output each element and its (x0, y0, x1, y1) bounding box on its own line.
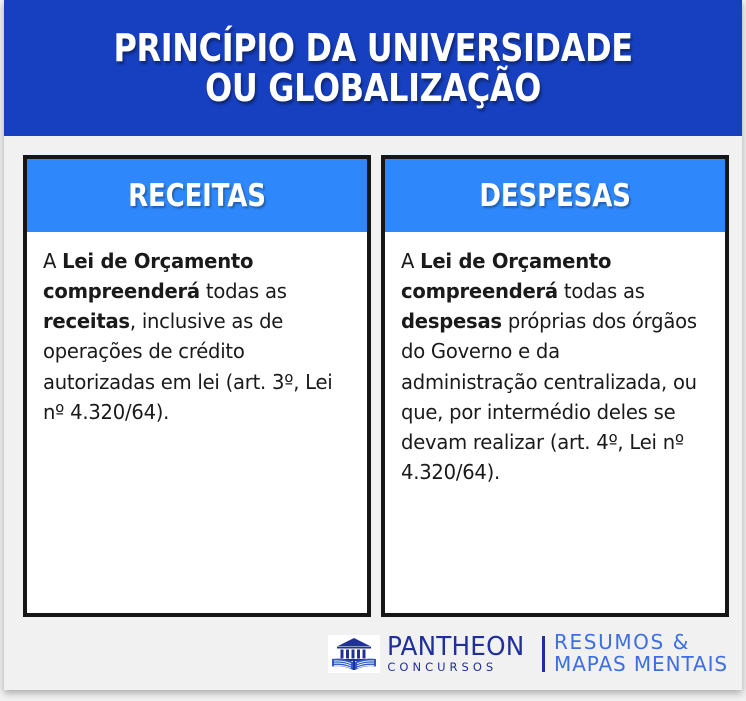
logo-divider (542, 636, 545, 672)
infographic-page: PRINCÍPIO DA UNIVERSIDADE OU GLOBALIZAÇÃ… (0, 0, 746, 701)
logo-subtitle: CONCURSOS (387, 662, 532, 674)
page-title: PRINCÍPIO DA UNIVERSIDADE OU GLOBALIZAÇÃ… (113, 28, 632, 109)
footer-branding: PANTHEON CONCURSOS RESUMOS & MAPAS MENTA… (4, 617, 742, 690)
column-text-receitas: A Lei de Orçamento compreenderá todas as… (43, 246, 339, 427)
column-despesas: DESPESAS A Lei de Orçamento compreenderá… (381, 155, 729, 617)
logo-tagline-line2: MAPAS MENTAIS (554, 654, 728, 676)
pantheon-logo: PANTHEON CONCURSOS RESUMOS & MAPAS MENTA… (328, 632, 728, 675)
column-header-despesas: DESPESAS (385, 159, 725, 232)
logo-tagline-line1: RESUMOS & (554, 632, 728, 654)
column-body-receitas: A Lei de Orçamento compreenderá todas as… (27, 232, 367, 613)
banner-header: PRINCÍPIO DA UNIVERSIDADE OU GLOBALIZAÇÃ… (4, 0, 742, 136)
column-header-label: DESPESAS (479, 178, 630, 214)
column-header-label: RECEITAS (128, 178, 266, 214)
columns-container: RECEITAS A Lei de Orçamento compreenderá… (4, 155, 742, 617)
card-surface: PRINCÍPIO DA UNIVERSIDADE OU GLOBALIZAÇÃ… (4, 0, 742, 690)
column-receitas: RECEITAS A Lei de Orçamento compreenderá… (23, 155, 371, 617)
logo-name: PANTHEON (387, 634, 524, 660)
column-text-despesas: A Lei de Orçamento compreenderá todas as… (401, 246, 697, 487)
logo-tagline: RESUMOS & MAPAS MENTAIS (554, 632, 728, 675)
logo-wordmark: PANTHEON CONCURSOS (387, 634, 532, 674)
column-body-despesas: A Lei de Orçamento compreenderá todas as… (385, 232, 725, 613)
column-header-receitas: RECEITAS (27, 159, 367, 232)
pantheon-temple-book-icon (328, 635, 380, 673)
